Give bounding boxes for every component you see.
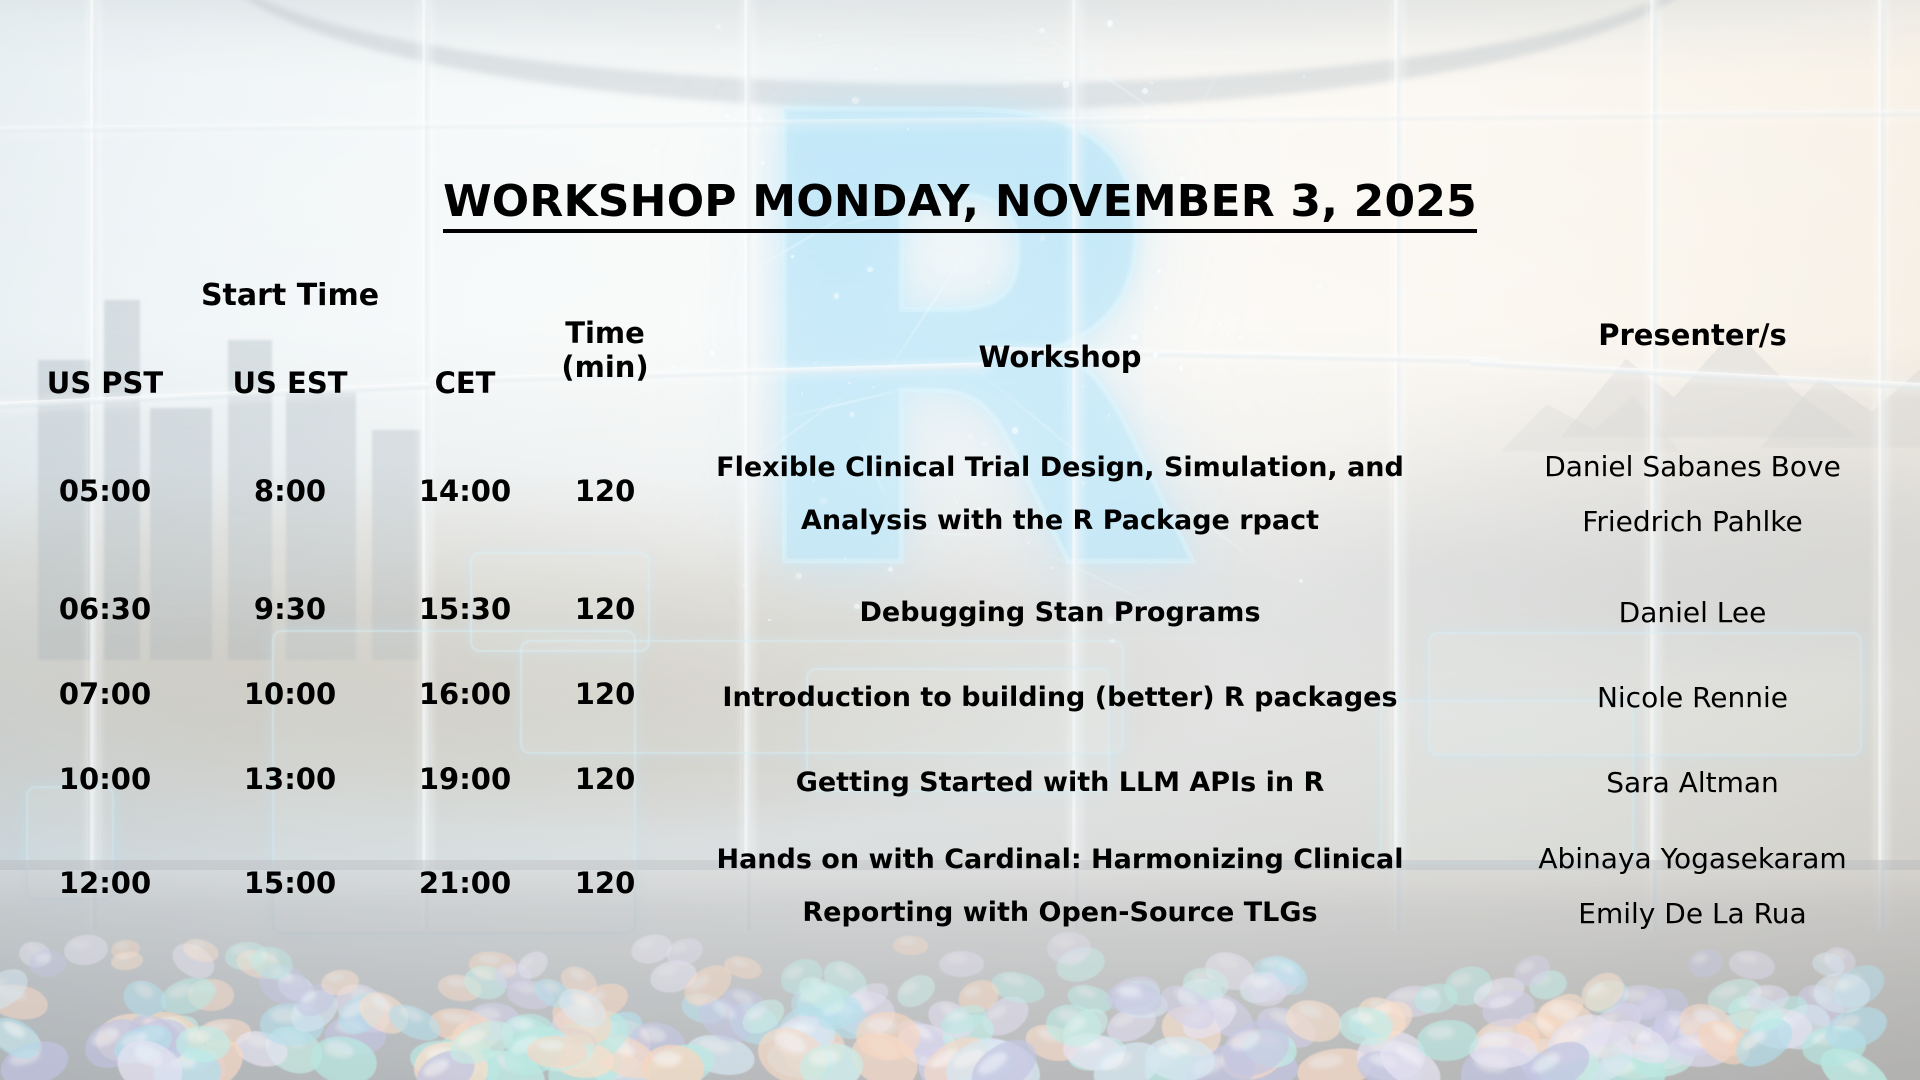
column-group-header-start-time: Start Time [185, 278, 395, 313]
column-header-us-pst: US PST [0, 366, 210, 400]
cell-workshop-line: Flexible Clinical Trial Design, Simulati… [655, 442, 1465, 495]
cell-workshop: Getting Started with LLM APIs in R [655, 757, 1465, 810]
cell-presenters-line: Abinaya Yogasekaram [1465, 832, 1920, 887]
cell-presenters-line: Friedrich Pahlke [1465, 495, 1920, 550]
cell-us-pst: 10:00 [0, 762, 210, 796]
slide-canvas: R WORKSHOP MONDAY, NOVEMBER 3, 2025 [0, 0, 1920, 1080]
cell-presenters: Abinaya YogasekaramEmily De La Rua [1465, 832, 1920, 941]
cell-presenters: Daniel Sabanes BoveFriedrich Pahlke [1465, 440, 1920, 549]
cell-workshop: Flexible Clinical Trial Design, Simulati… [655, 442, 1465, 547]
cell-presenters: Daniel Lee [1465, 586, 1920, 641]
cell-presenters-line: Sara Altman [1465, 756, 1920, 811]
cell-workshop-line: Debugging Stan Programs [655, 587, 1465, 640]
page-title-text: WORKSHOP MONDAY, NOVEMBER 3, 2025 [443, 176, 1477, 233]
cell-workshop: Hands on with Cardinal: Harmonizing Clin… [655, 834, 1465, 939]
cell-workshop-line: Analysis with the R Package rpact [655, 495, 1465, 548]
cell-presenters-line: Nicole Rennie [1465, 671, 1920, 726]
cell-us-pst: 12:00 [0, 866, 210, 900]
column-header-workshop: Workshop [655, 340, 1465, 374]
cell-us-pst: 05:00 [0, 474, 210, 508]
cell-us-pst: 07:00 [0, 677, 210, 711]
cell-workshop-line: Getting Started with LLM APIs in R [655, 757, 1465, 810]
cell-workshop: Introduction to building (better) R pack… [655, 672, 1465, 725]
cell-workshop-line: Introduction to building (better) R pack… [655, 672, 1465, 725]
cell-workshop: Debugging Stan Programs [655, 587, 1465, 640]
slide-content: WORKSHOP MONDAY, NOVEMBER 3, 2025 Start … [0, 0, 1920, 1080]
column-header-presenters: Presenter/s [1465, 318, 1920, 352]
cell-presenters: Nicole Rennie [1465, 671, 1920, 726]
cell-workshop-line: Hands on with Cardinal: Harmonizing Clin… [655, 834, 1465, 887]
cell-us-pst: 06:30 [0, 592, 210, 626]
cell-presenters-line: Daniel Lee [1465, 586, 1920, 641]
cell-presenters-line: Daniel Sabanes Bove [1465, 440, 1920, 495]
page-title: WORKSHOP MONDAY, NOVEMBER 3, 2025 [0, 176, 1920, 227]
cell-workshop-line: Reporting with Open-Source TLGs [655, 887, 1465, 940]
cell-presenters: Sara Altman [1465, 756, 1920, 811]
cell-presenters-line: Emily De La Rua [1465, 887, 1920, 942]
